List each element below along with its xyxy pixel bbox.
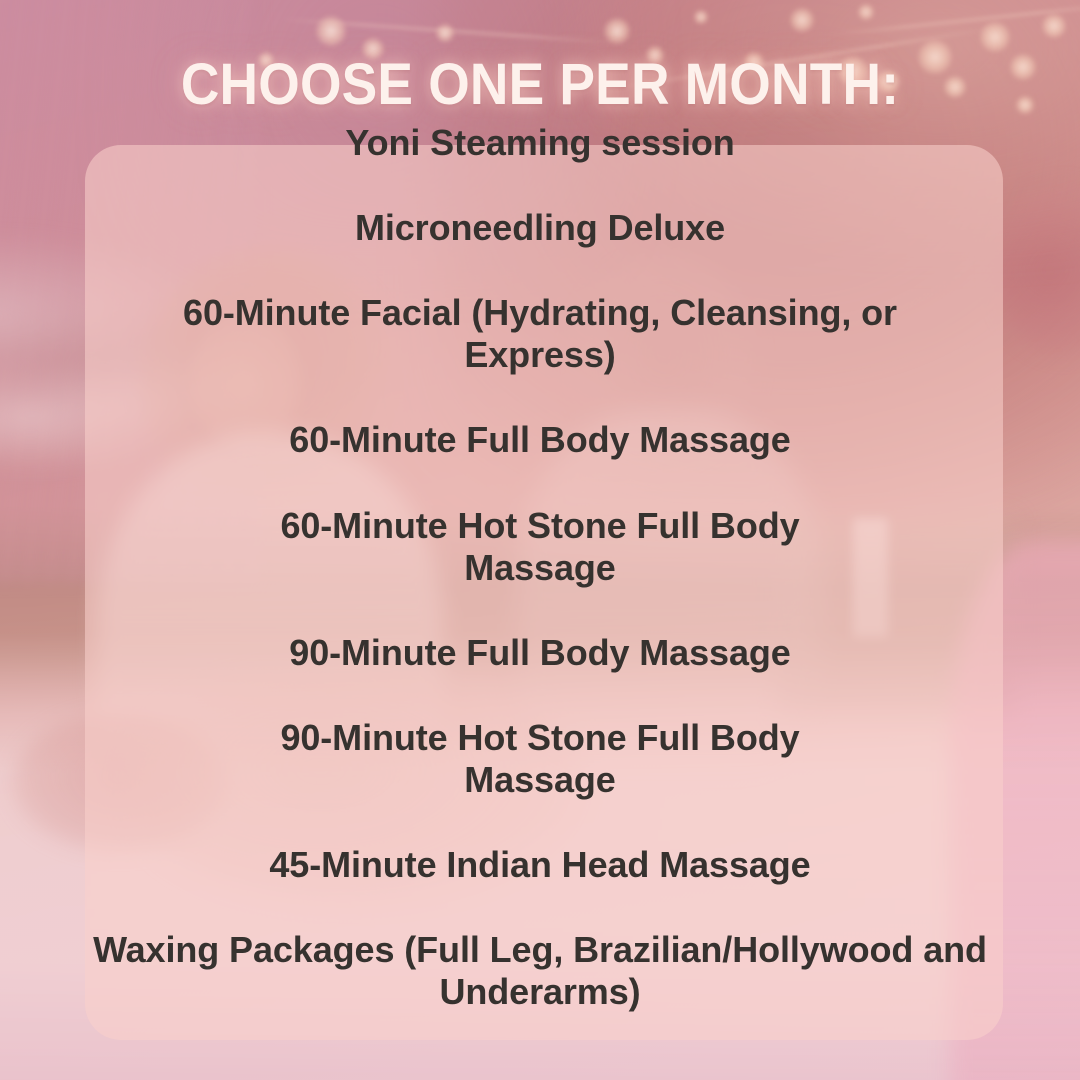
list-item: 45-Minute Indian Head Massage — [110, 844, 970, 886]
list-item: 60-Minute Facial (Hydrating, Cleansing, … — [110, 292, 970, 376]
list-item: 90-Minute Hot Stone Full Body Massage — [220, 717, 860, 801]
list-item: 90-Minute Full Body Massage — [110, 632, 970, 674]
page-title: CHOOSE ONE PER MONTH: — [43, 56, 1037, 114]
list-item: Yoni Steaming session — [110, 122, 970, 164]
list-item: 60-Minute Hot Stone Full Body Massage — [220, 505, 860, 589]
list-item: Microneedling Deluxe — [110, 207, 970, 249]
services-list: Yoni Steaming session Microneedling Delu… — [60, 122, 1020, 1013]
list-item: 60-Minute Full Body Massage — [110, 419, 970, 461]
promo-graphic: CHOOSE ONE PER MONTH: Yoni Steaming sess… — [0, 0, 1080, 1080]
list-item: Waxing Packages (Full Leg, Brazilian/Hol… — [80, 929, 1000, 1013]
